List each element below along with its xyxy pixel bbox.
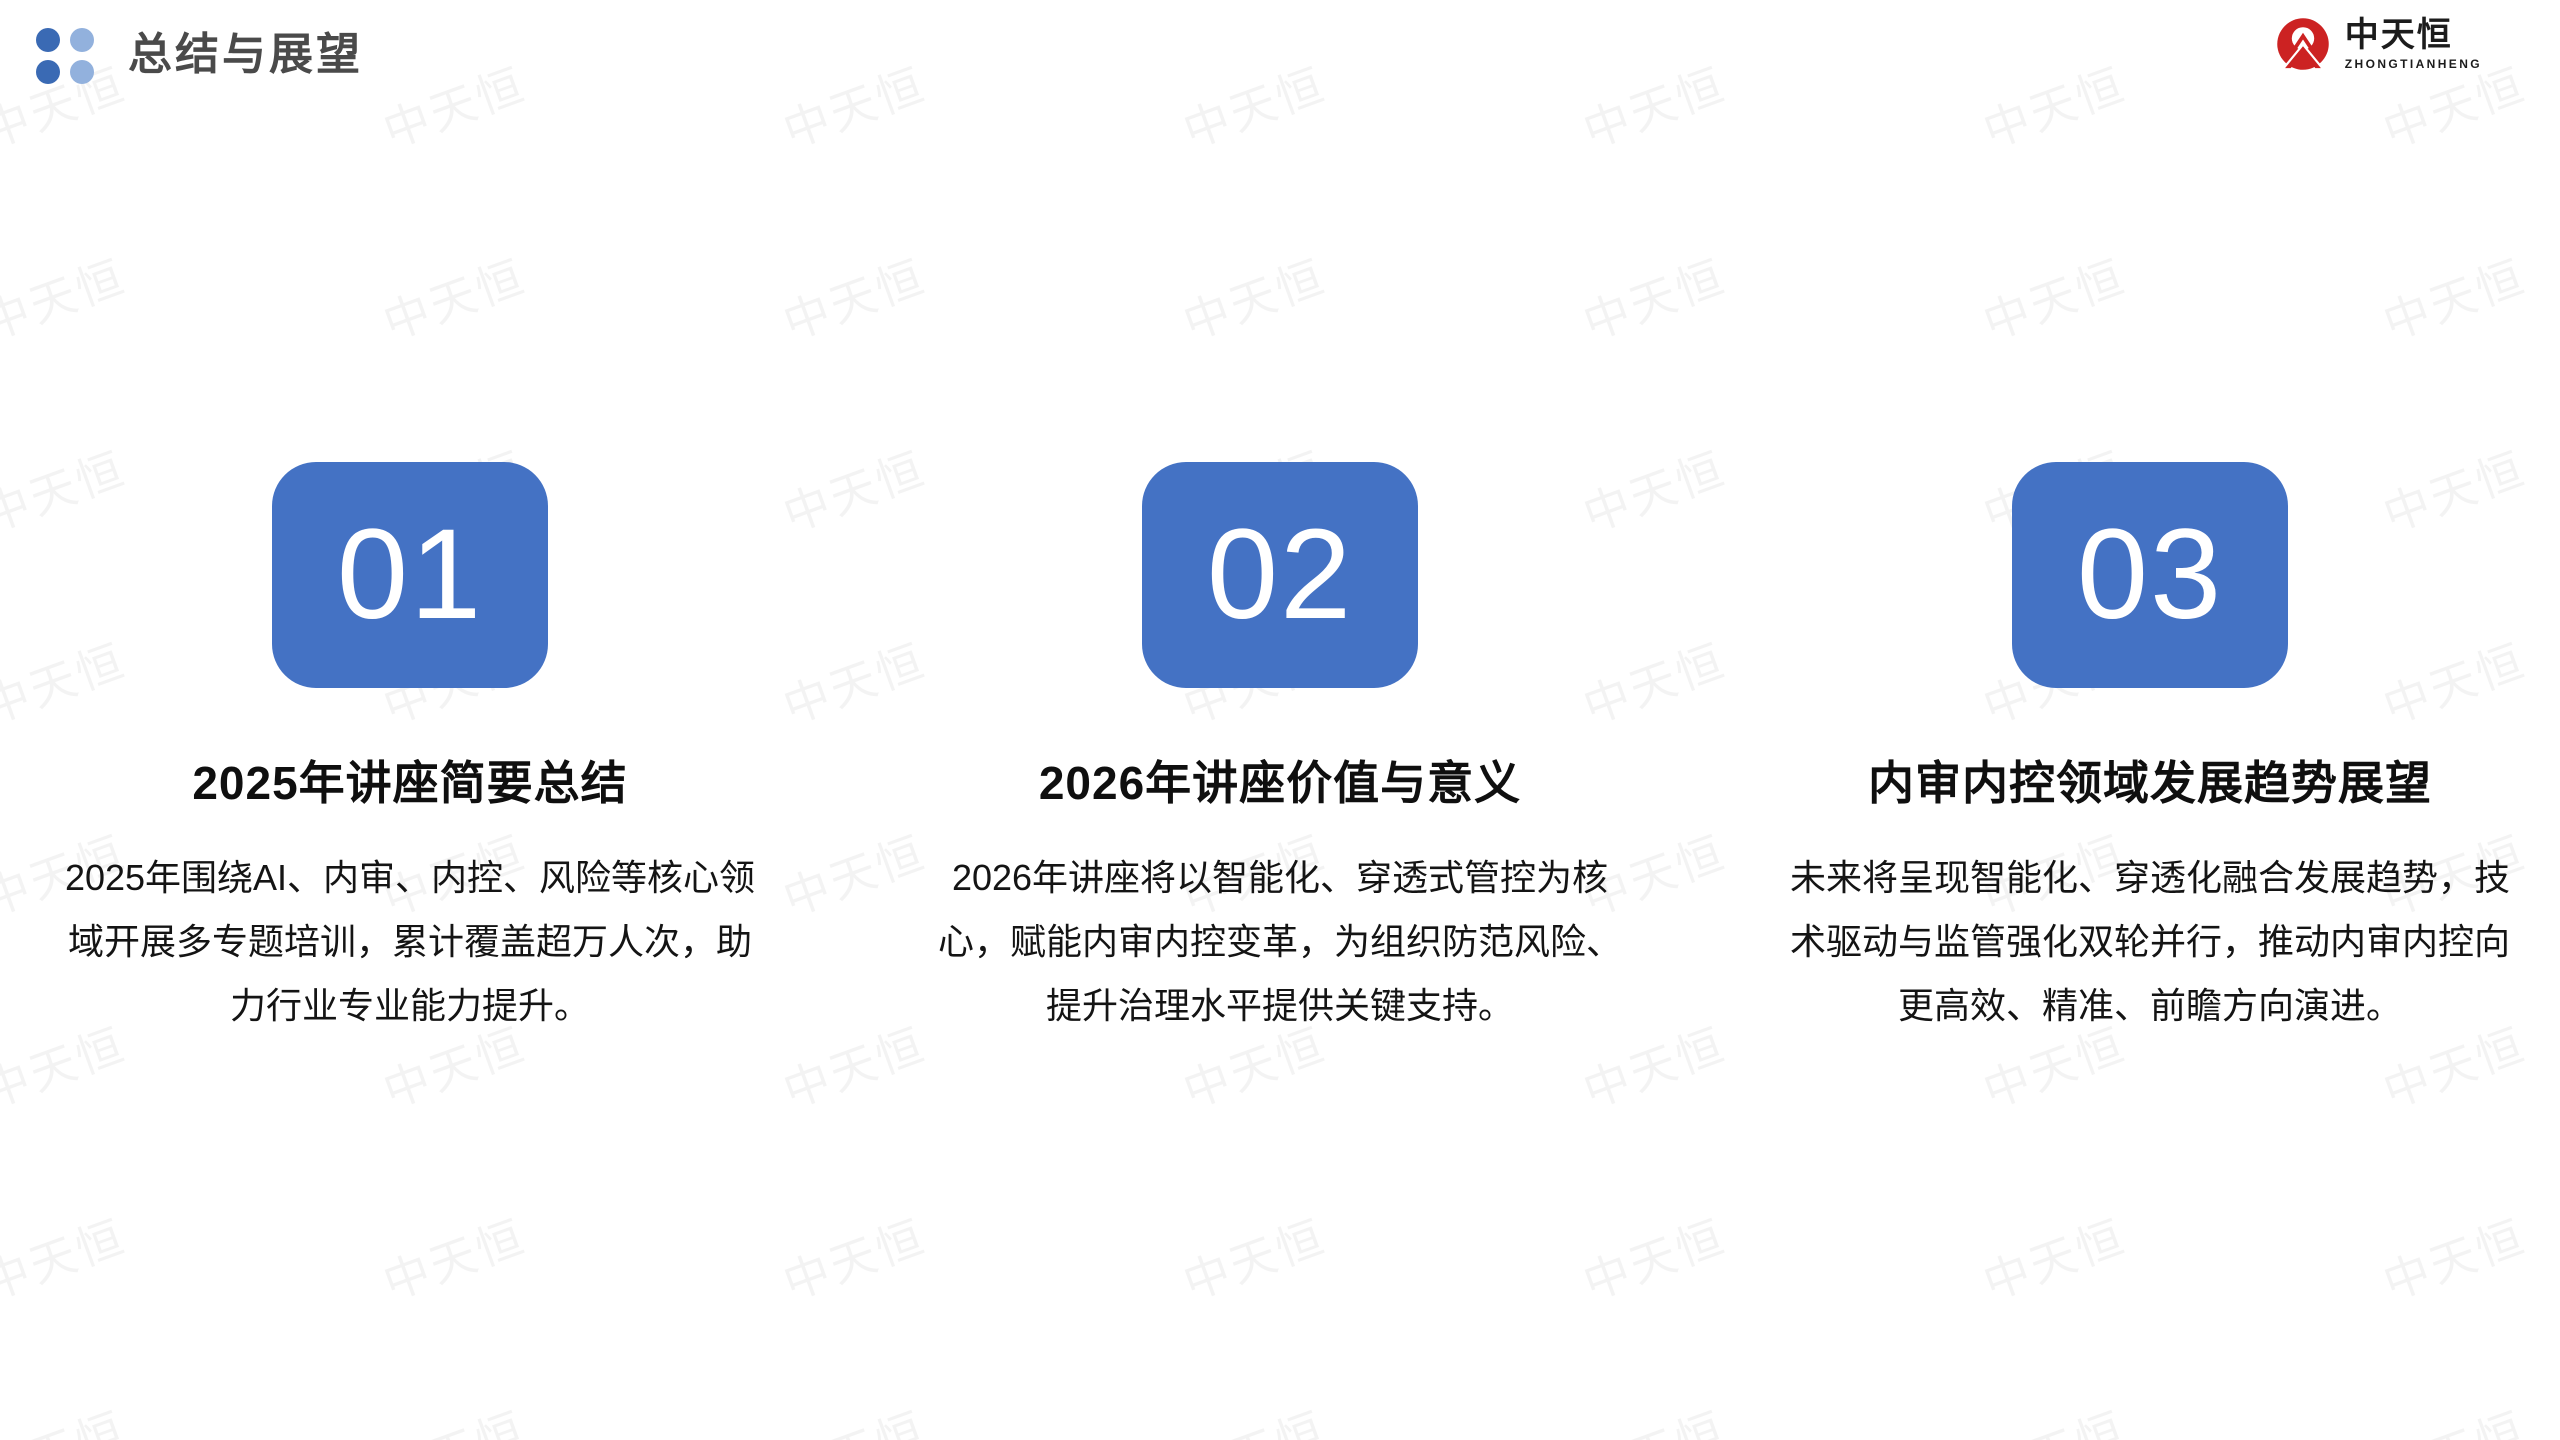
four-dots-decoration-icon (36, 28, 98, 80)
page-title: 总结与展望 (128, 28, 363, 82)
cards-row: 01 2025年讲座简要总结 2025年围绕AI、内审、内控、风险等核心领域开展… (0, 462, 2560, 1038)
dot-top-left (36, 28, 60, 52)
card-body-text: 未来将呈现智能化、穿透化融合发展趋势，技术驱动与监管强化双轮并行，推动内审内控向… (1790, 846, 2510, 1038)
card-number-badge: 02 (1142, 462, 1418, 688)
card-body-text: 2025年围绕AI、内审、内控、风险等核心领域开展多专题培训，累计覆盖超万人次，… (60, 846, 760, 1038)
card-number-badge: 03 (2012, 462, 2288, 688)
slide-header: 总结与展望 中天恒 ZHONGTIANHENG (0, 0, 2560, 108)
brand-name-cn: 中天恒 (2345, 18, 2482, 52)
card-body-text: 2026年讲座将以智能化、穿透式管控为核心，赋能内审内控变革，为组织防范风险、提… (930, 846, 1630, 1038)
card-title: 2026年讲座价值与意义 (1039, 754, 1521, 812)
mountain-arch-logo-icon (2275, 16, 2331, 72)
card-title: 2025年讲座简要总结 (192, 754, 627, 812)
card-title: 内审内控领域发展趋势展望 (1868, 754, 2432, 812)
dot-bottom-left (36, 60, 60, 84)
slide-root: 总结与展望 中天恒 ZHONGTIANHENG 01 2025年讲座简要总结 2… (0, 0, 2560, 1440)
brand-logo: 中天恒 ZHONGTIANHENG (2275, 16, 2482, 72)
summary-card-02: 02 2026年讲座价值与意义 2026年讲座将以智能化、穿透式管控为核心，赋能… (920, 462, 1640, 1038)
brand-text-block: 中天恒 ZHONGTIANHENG (2345, 18, 2482, 70)
brand-name-en: ZHONGTIANHENG (2345, 58, 2482, 70)
summary-card-01: 01 2025年讲座简要总结 2025年围绕AI、内审、内控、风险等核心领域开展… (50, 462, 770, 1038)
dot-top-right (70, 28, 94, 52)
dot-bottom-right (70, 60, 94, 84)
summary-card-03: 03 内审内控领域发展趋势展望 未来将呈现智能化、穿透化融合发展趋势，技术驱动与… (1790, 462, 2510, 1038)
card-number-badge: 01 (272, 462, 548, 688)
